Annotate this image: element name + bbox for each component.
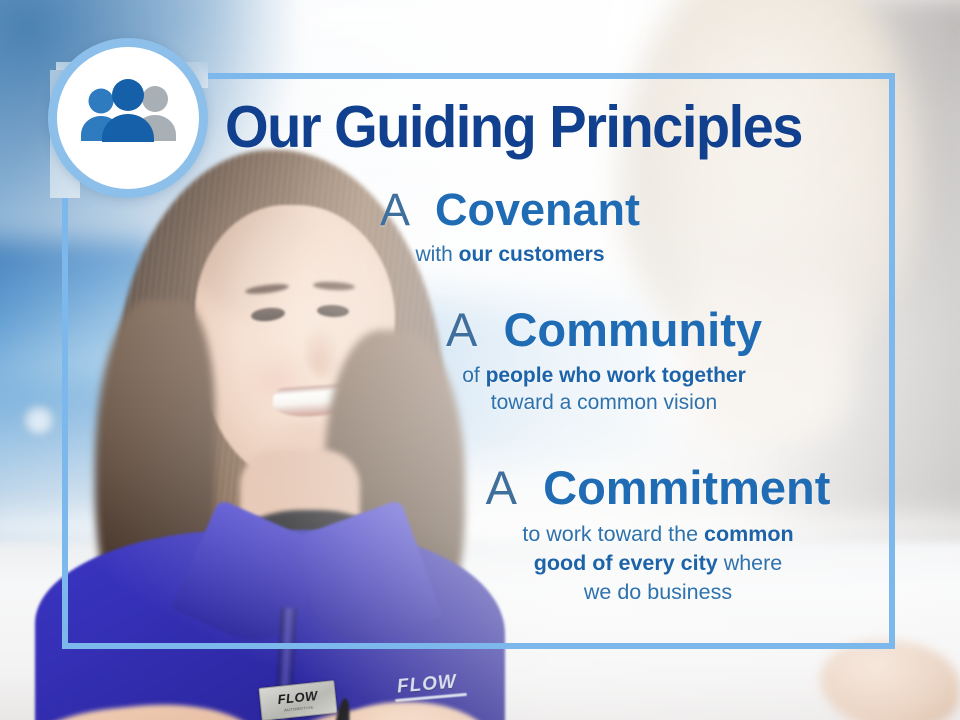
subtext-line: good of every city where bbox=[443, 549, 873, 578]
principle-commitment-word: Commitment bbox=[543, 461, 830, 514]
principle-community-article: A bbox=[446, 303, 490, 356]
principle-covenant: A Covenant with our customers bbox=[345, 186, 675, 268]
text-content: Our Guiding Principles A Covenant with o… bbox=[0, 0, 960, 720]
principle-covenant-heading: A Covenant bbox=[345, 186, 675, 235]
principle-community-heading: A Community bbox=[388, 305, 820, 356]
principle-community-word: Community bbox=[503, 303, 762, 356]
principle-commitment-subtext: to work toward the commongood of every c… bbox=[443, 520, 873, 608]
principle-covenant-article: A bbox=[380, 184, 423, 235]
principle-commitment: A Commitment to work toward the commongo… bbox=[443, 463, 873, 607]
principle-community-subtext: of people who work togethertoward a comm… bbox=[388, 362, 820, 417]
subtext-line: of people who work together bbox=[388, 362, 820, 390]
principle-commitment-article: A bbox=[486, 461, 530, 514]
principle-covenant-word: Covenant bbox=[435, 184, 640, 235]
principle-community: A Community of people who work togethert… bbox=[388, 305, 820, 417]
guiding-principles-graphic: FLOW AUTOMOTIVE FLOW bbox=[0, 0, 960, 720]
subtext-line: we do business bbox=[443, 578, 873, 607]
principle-commitment-heading: A Commitment bbox=[443, 463, 873, 514]
subtext-line: with our customers bbox=[345, 241, 675, 269]
page-title: Our Guiding Principles bbox=[225, 93, 802, 161]
subtext-line: to work toward the common bbox=[443, 520, 873, 549]
subtext-line: toward a common vision bbox=[388, 389, 820, 417]
principle-covenant-subtext: with our customers bbox=[345, 241, 675, 269]
